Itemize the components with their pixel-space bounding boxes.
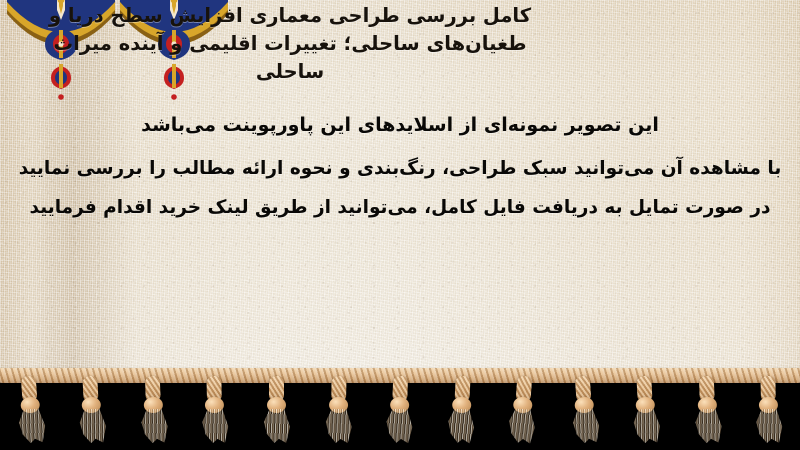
- slide-body-text: این تصویر نمونه‌ای از اسلایدهای این پاور…: [0, 110, 800, 223]
- tassel-skirt: [141, 409, 168, 444]
- tassel-skirt: [264, 409, 290, 443]
- tassel-skirt: [386, 409, 413, 444]
- tassel: [80, 375, 105, 442]
- tassel: [266, 376, 288, 442]
- tassel-skirt: [633, 408, 661, 443]
- tassel: [388, 376, 412, 443]
- tassel: [142, 376, 166, 443]
- tassel: [18, 375, 45, 442]
- slide-title-line-3: ساحلی: [10, 58, 570, 86]
- tassel-skirt: [756, 409, 783, 443]
- tassel: [510, 375, 537, 442]
- tassel: [449, 375, 474, 442]
- tassel: [696, 376, 720, 443]
- slide-title: کامل بررسی طراحی معماری افزایش سطح دریا …: [10, 2, 570, 86]
- body-line-review-notice: با مشاهده آن می‌توانید سبک طراحی، رنگ‌بن…: [0, 154, 800, 184]
- knotted-tassel-fringe: [0, 362, 800, 388]
- tassel-skirt: [18, 408, 46, 444]
- tassel: [571, 375, 598, 442]
- body-line-sample-notice: این تصویر نمونه‌ای از اسلایدهای این پاور…: [0, 110, 800, 140]
- body-line-purchase-notice: در صورت تمایل به دریافت فایل کامل، می‌تو…: [0, 193, 800, 223]
- tassel-skirt: [325, 409, 352, 443]
- presentation-slide: کامل بررسی طراحی معماری افزایش سطح دریا …: [0, 0, 800, 450]
- tassel-skirt: [572, 408, 600, 444]
- tassel: [758, 376, 781, 442]
- slide-title-line-2: طغیان‌های ساحلی؛ تغییرات اقلیمی و آینده …: [10, 30, 570, 58]
- tassel: [633, 375, 658, 442]
- tassel-skirt: [695, 409, 722, 444]
- tassel: [327, 376, 350, 442]
- tassel: [204, 376, 227, 442]
- tassel-skirt: [447, 408, 475, 443]
- slide-title-line-1: کامل بررسی طراحی معماری افزایش سطح دریا …: [10, 2, 570, 30]
- tassel-skirt: [508, 408, 536, 444]
- tassel-skirt: [79, 408, 107, 443]
- tassel-skirt: [202, 409, 229, 443]
